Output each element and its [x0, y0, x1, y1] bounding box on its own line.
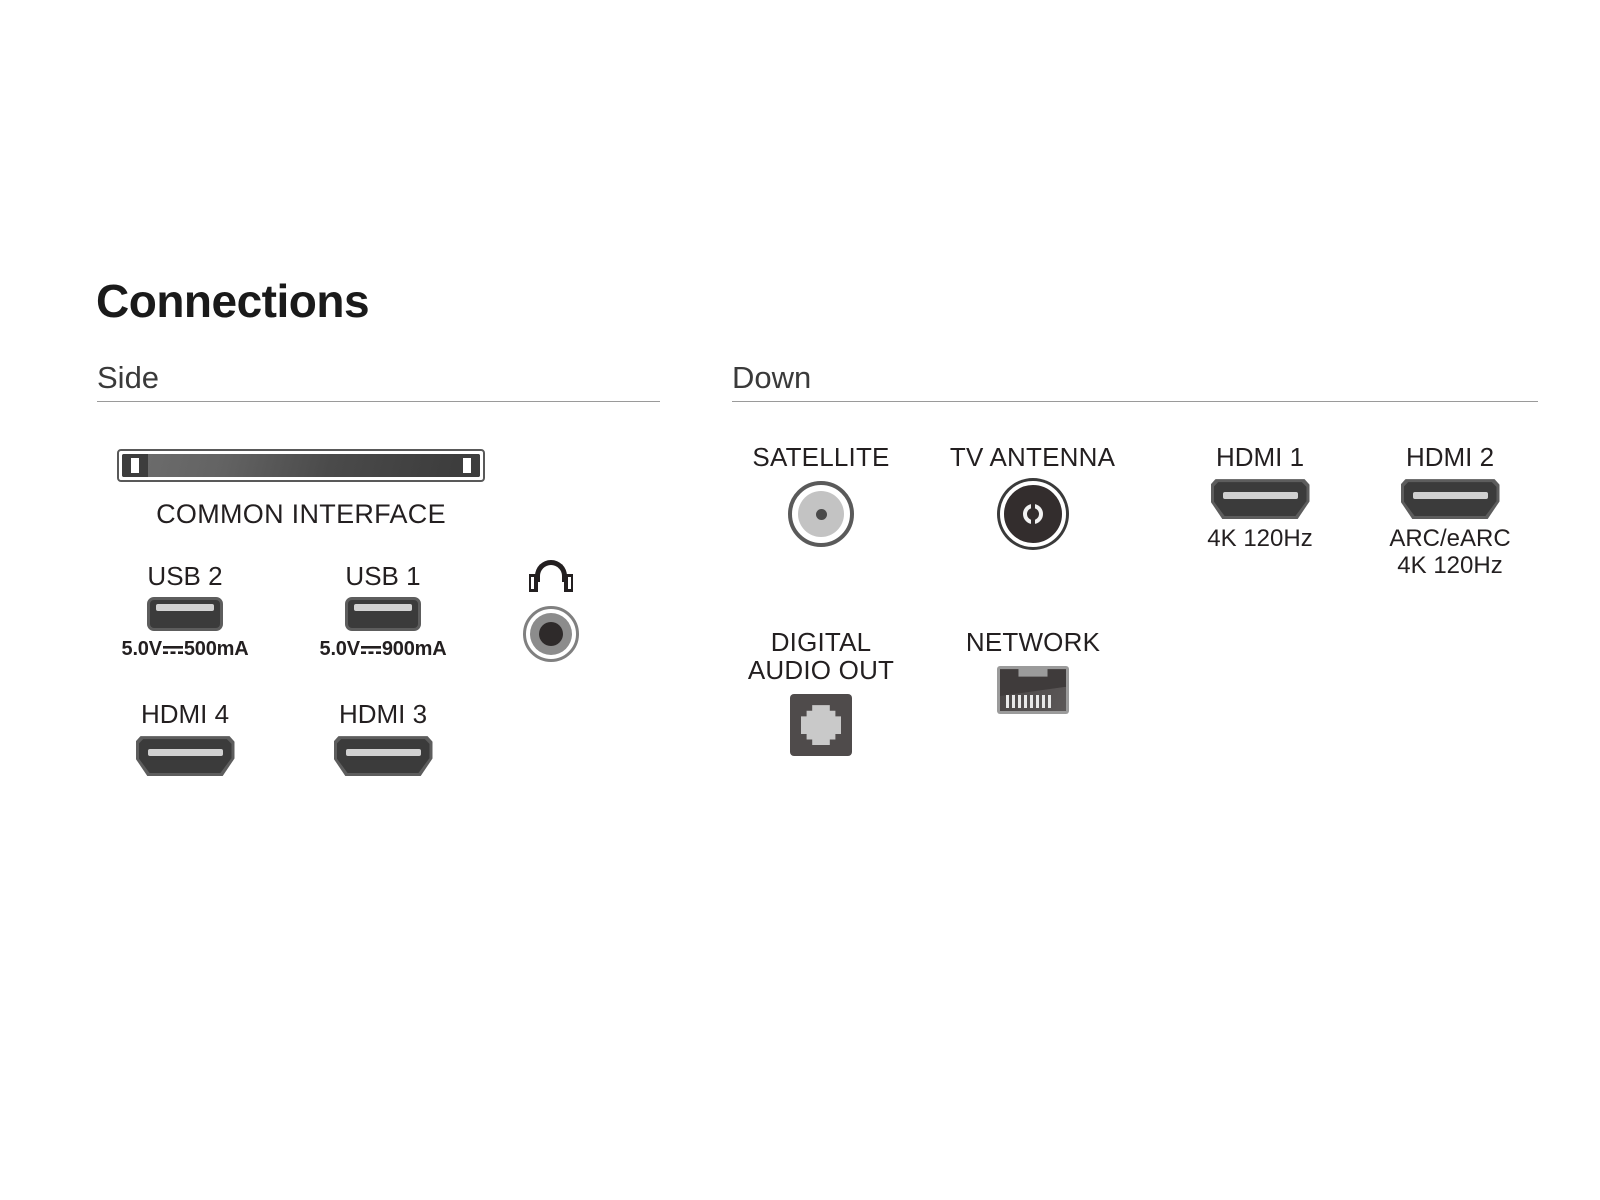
side-section-divider: [97, 401, 660, 402]
usb-1-voltage: 5.0V: [320, 638, 360, 660]
common-interface-slot[interactable]: [117, 449, 485, 482]
hdmi-2-label: HDMI 2: [1406, 443, 1494, 471]
ci-slot-icon: [117, 449, 485, 482]
coax-antenna-icon[interactable]: [1000, 481, 1066, 547]
hdmi-contact-bar: [1223, 492, 1298, 499]
satellite-label: SATELLITE: [752, 443, 889, 471]
usb-2-voltage: 5.0V: [122, 638, 162, 660]
usb-2-current: 500mA: [184, 638, 249, 660]
ci-slot-inner: [122, 454, 480, 477]
antenna-center-ring: [1023, 504, 1043, 524]
rj45-icon[interactable]: [997, 666, 1069, 714]
usb-2-label: USB 2: [147, 562, 222, 590]
port-group-usb-2[interactable]: USB 2 5.0V500mA: [110, 562, 260, 660]
page-title: Connections: [96, 278, 369, 324]
connections-page: Connections Side COMMON INTERFACE USB 2 …: [0, 0, 1600, 1200]
hdmi-body: [1404, 482, 1497, 516]
hdmi-body: [139, 739, 232, 773]
coax-satellite-icon[interactable]: [788, 481, 854, 547]
ci-notch-right: [463, 458, 471, 473]
hdmi-3-label: HDMI 3: [339, 700, 427, 728]
digital-audio-out-label-line2: AUDIO OUT: [748, 656, 894, 684]
hdmi-4-label: HDMI 4: [141, 700, 229, 728]
section-heading-side: Side: [97, 362, 159, 393]
rj45-pin: [1006, 695, 1009, 708]
section-heading-down: Down: [732, 362, 811, 393]
hdmi-port-icon[interactable]: [1401, 479, 1500, 519]
rj45-pin: [1036, 695, 1039, 708]
hdmi-contact-bar: [1413, 492, 1488, 499]
ci-notch-left: [131, 458, 139, 473]
usb-contact-bar: [156, 604, 214, 611]
port-group-hdmi-2[interactable]: HDMI 2 ARC/eARC 4K 120Hz: [1362, 443, 1538, 580]
hdmi-port-icon[interactable]: [136, 736, 235, 776]
port-group-network[interactable]: NETWORK: [940, 628, 1126, 714]
rj45-pin-row: [1006, 695, 1051, 708]
port-group-hdmi-3[interactable]: HDMI 3: [308, 700, 458, 783]
dc-symbol-icon: [162, 643, 184, 656]
hdmi-1-label: HDMI 1: [1216, 443, 1304, 471]
dc-symbol-icon: [360, 643, 382, 656]
headphone-cup-left: [529, 574, 538, 592]
rj45-pin: [1042, 695, 1045, 708]
hdmi-contact-bar: [148, 749, 223, 756]
satellite-center-pin: [816, 509, 827, 520]
down-section-divider: [732, 401, 1538, 402]
usb-1-current: 900mA: [382, 638, 447, 660]
port-group-hdmi-4[interactable]: HDMI 4: [110, 700, 260, 783]
port-group-tv-antenna[interactable]: TV ANTENNA: [935, 443, 1130, 547]
port-group-headphone[interactable]: [506, 560, 596, 662]
optical-aperture: [801, 705, 841, 745]
usb-2-power-spec: 5.0V500mA: [122, 638, 249, 660]
rj45-pin: [1012, 695, 1015, 708]
port-group-usb-1[interactable]: USB 1 5.0V900mA: [308, 562, 458, 660]
hdmi-contact-bar: [346, 749, 421, 756]
optical-toslink-icon[interactable]: [790, 694, 852, 756]
satellite-face: [798, 491, 844, 537]
port-group-satellite[interactable]: SATELLITE: [731, 443, 911, 547]
headphone-icon: [528, 560, 574, 592]
hdmi-2-arc-spec: ARC/eARC: [1389, 526, 1510, 553]
headphone-jack-ring: [530, 613, 572, 655]
hdmi-body: [337, 739, 430, 773]
network-label: NETWORK: [966, 628, 1100, 656]
rj45-pin: [1018, 695, 1021, 708]
usb-contact-bar: [354, 604, 412, 611]
rj45-pin: [1048, 695, 1051, 708]
headphone-band: [535, 560, 567, 582]
hdmi-2-resolution-spec: 4K 120Hz: [1397, 553, 1502, 580]
tv-antenna-label: TV ANTENNA: [950, 443, 1115, 471]
hdmi-port-icon[interactable]: [334, 736, 433, 776]
rj45-pin: [1030, 695, 1033, 708]
headphone-jack-hole: [539, 622, 563, 646]
port-group-digital-audio-out[interactable]: DIGITAL AUDIO OUT: [731, 628, 911, 756]
usb-1-power-spec: 5.0V900mA: [320, 638, 447, 660]
usb-port-icon[interactable]: [345, 597, 421, 631]
port-group-hdmi-1[interactable]: HDMI 1 4K 120Hz: [1180, 443, 1340, 553]
usb-port-icon[interactable]: [147, 597, 223, 631]
headphone-jack-icon[interactable]: [523, 606, 579, 662]
common-interface-label: COMMON INTERFACE: [117, 500, 485, 529]
digital-audio-out-label-line1: DIGITAL: [771, 628, 872, 656]
headphone-cup-right: [564, 574, 573, 592]
hdmi-body: [1214, 482, 1307, 516]
hdmi-port-icon[interactable]: [1211, 479, 1310, 519]
usb-1-label: USB 1: [345, 562, 420, 590]
rj45-pin: [1024, 695, 1027, 708]
hdmi-1-spec: 4K 120Hz: [1207, 526, 1312, 553]
